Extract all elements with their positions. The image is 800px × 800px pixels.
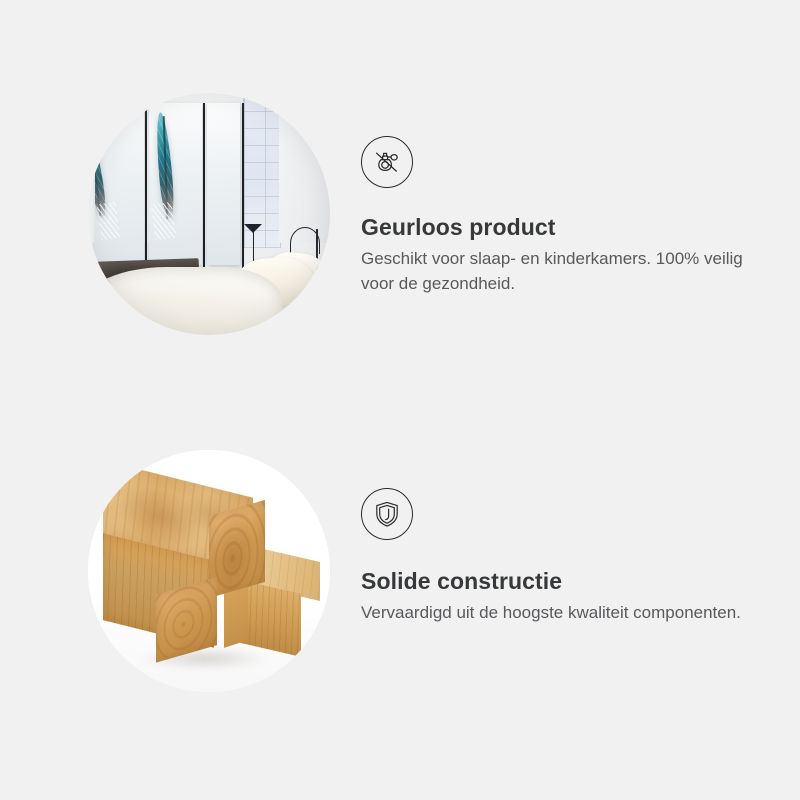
art-panel-right [207, 103, 241, 265]
right-wall [279, 93, 330, 243]
shield-icon [361, 488, 413, 540]
feather-wisp [97, 202, 121, 240]
bedroom-scene [88, 93, 330, 335]
duvet [88, 267, 282, 335]
feature-description: Geschikt voor slaap- en kinderkamers. 10… [361, 247, 751, 296]
feature-text-odourless: Geurloos product Geschikt voor slaap- en… [330, 93, 800, 296]
product-features-page: Geurloos product Geschikt voor slaap- en… [0, 0, 800, 800]
no-fragrance-icon [361, 136, 413, 188]
art-panel-left [95, 103, 143, 265]
feature-image-odourless [88, 93, 330, 335]
wooden-beams-scene [88, 450, 330, 692]
feature-block-odourless: Geurloos product Geschikt voor slaap- en… [0, 93, 800, 335]
main-beam-end-grain [209, 500, 265, 598]
circular-photo-frame [88, 93, 330, 335]
feature-block-solid-construction: Solide constructie Vervaardigd uit de ho… [0, 450, 800, 692]
art-panel-center [149, 103, 202, 265]
circular-photo-frame [88, 450, 330, 692]
feature-title: Solide constructie [361, 568, 800, 595]
feather-wisp [150, 202, 176, 240]
feature-description: Vervaardigd uit de hoogste kwaliteit com… [361, 601, 751, 626]
feature-text-solid-construction: Solide constructie Vervaardigd uit de ho… [330, 450, 800, 626]
panel-divider [145, 103, 147, 272]
feature-title: Geurloos product [361, 214, 800, 241]
feature-image-solid-construction [88, 450, 330, 692]
panel-divider [203, 103, 205, 272]
panel-divider [242, 103, 244, 272]
